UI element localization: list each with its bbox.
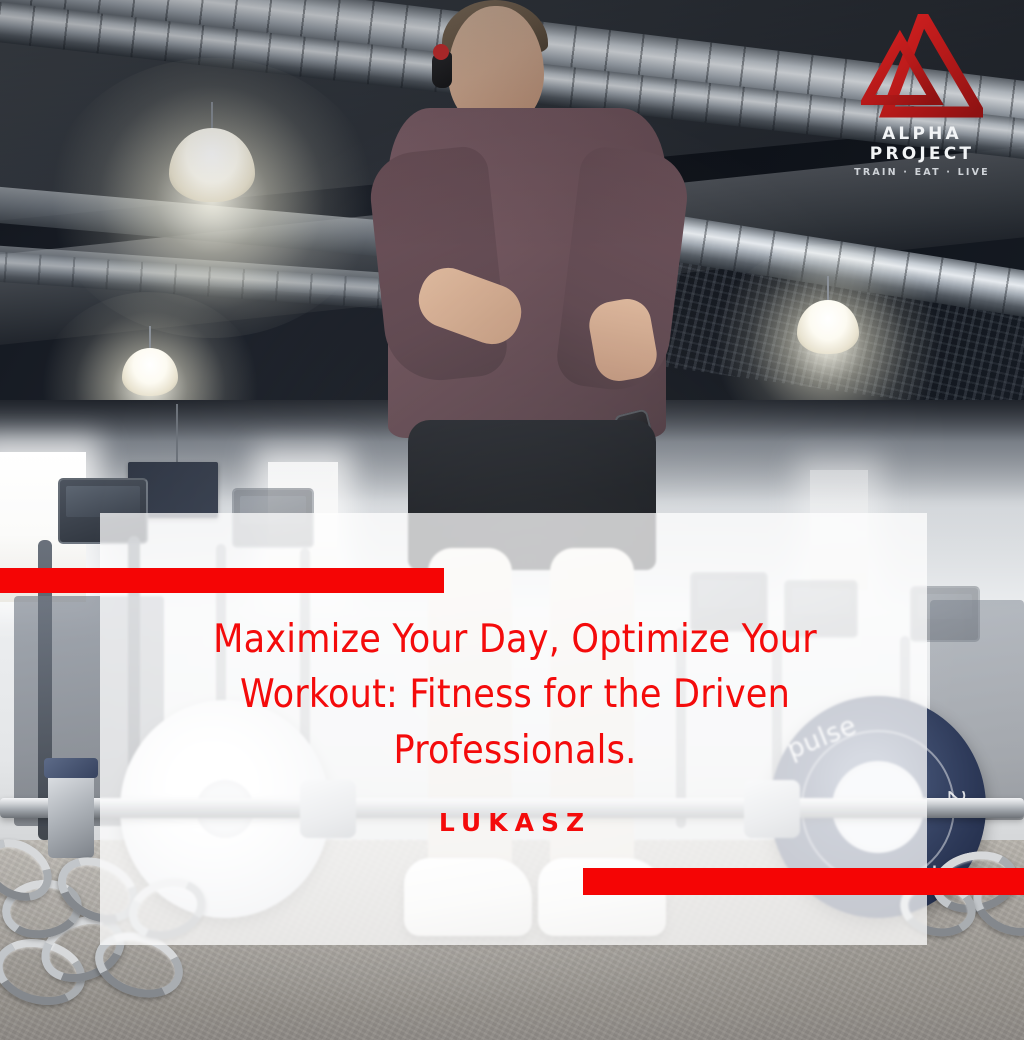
accent-bar-top	[0, 568, 444, 593]
chain-clamp	[48, 772, 94, 858]
brand-tagline: TRAIN · EAT · LIVE	[844, 167, 1000, 178]
alpha-triangle-logo-icon	[861, 14, 983, 118]
page-title: Maximize Your Day, Optimize Your Workout…	[130, 612, 900, 778]
brand-logo[interactable]: ALPHA PROJECT TRAIN · EAT · LIVE	[844, 14, 1000, 178]
earbud-icon	[432, 52, 452, 88]
tv-mount	[176, 404, 178, 464]
accent-bar-bottom	[583, 868, 1024, 895]
promo-poster: pulse pulse 20	[0, 0, 1024, 1040]
author-byline: LUKASZ	[130, 808, 900, 837]
brand-name: ALPHA PROJECT	[844, 124, 1000, 164]
